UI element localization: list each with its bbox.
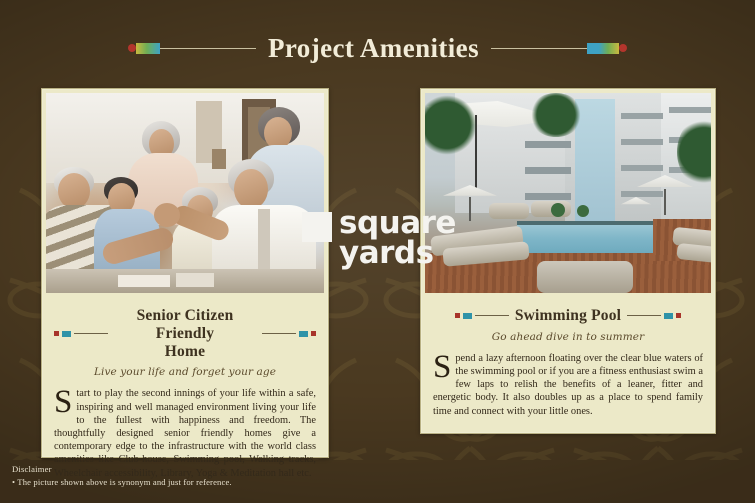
mini-ornament-right	[262, 331, 316, 337]
mini-ornament-left	[54, 331, 108, 337]
ornament-left-blocks	[128, 43, 160, 54]
ornament-dot-icon	[619, 44, 627, 52]
amenity-card-senior-citizen[interactable]: Senior Citizen Friendly Home Live your l…	[41, 88, 329, 458]
ornament-left	[128, 43, 256, 54]
card-title: Swimming Pool	[515, 307, 621, 325]
ornament-blue-bar	[587, 43, 599, 54]
mini-ornament-teal-icon	[664, 313, 673, 319]
mini-ornament-right	[627, 313, 681, 319]
disclaimer-title: Disclaimer	[12, 464, 232, 474]
mini-ornament-square-icon	[54, 331, 59, 336]
ornament-line	[160, 48, 256, 49]
card-title: Senior Citizen Friendly Home	[114, 307, 256, 360]
page-header: Project Amenities	[0, 26, 755, 70]
photo-pool-image	[425, 93, 711, 293]
ornament-gradient-bar	[136, 43, 160, 54]
card-tagline: Live your life and forget your age	[54, 366, 316, 378]
amenity-card-body: Senior Citizen Friendly Home Live your l…	[42, 297, 328, 490]
card-tagline: Go ahead dive in to summer	[433, 331, 703, 343]
ornament-gradient-bar	[599, 43, 619, 54]
ornament-right-blocks	[587, 43, 627, 54]
mini-ornament-line	[475, 315, 509, 316]
page-title: Project Amenities	[256, 33, 491, 64]
mini-ornament-square-icon	[311, 331, 316, 336]
card-title-row: Senior Citizen Friendly Home	[54, 307, 316, 360]
card-title-row: Swimming Pool	[433, 307, 703, 325]
card-description: Spend a lazy afternoon floating over the…	[433, 352, 703, 418]
mini-ornament-square-icon	[676, 313, 681, 318]
ornament-line	[491, 48, 587, 49]
photo-seniors-image	[46, 93, 324, 293]
mini-ornament-line	[627, 315, 661, 316]
amenity-card-swimming-pool[interactable]: Swimming Pool Go ahead dive in to summer…	[420, 88, 716, 434]
disclaimer: Disclaimer • The picture shown above is …	[12, 464, 232, 487]
mini-ornament-left	[455, 313, 509, 319]
ornament-dot-icon	[128, 44, 136, 52]
ornament-right	[491, 43, 627, 54]
mini-ornament-teal-icon	[62, 331, 71, 337]
mini-ornament-line	[74, 333, 108, 334]
amenity-photo-seniors	[46, 93, 324, 293]
amenity-card-body: Swimming Pool Go ahead dive in to summer…	[421, 297, 715, 428]
mini-ornament-square-icon	[455, 313, 460, 318]
disclaimer-text: • The picture shown above is synonym and…	[12, 477, 232, 487]
mini-ornament-teal-icon	[299, 331, 308, 337]
amenity-photo-pool	[425, 93, 711, 293]
amenities-page: Project Amenities	[0, 0, 755, 503]
mini-ornament-line	[262, 333, 296, 334]
mini-ornament-teal-icon	[463, 313, 472, 319]
